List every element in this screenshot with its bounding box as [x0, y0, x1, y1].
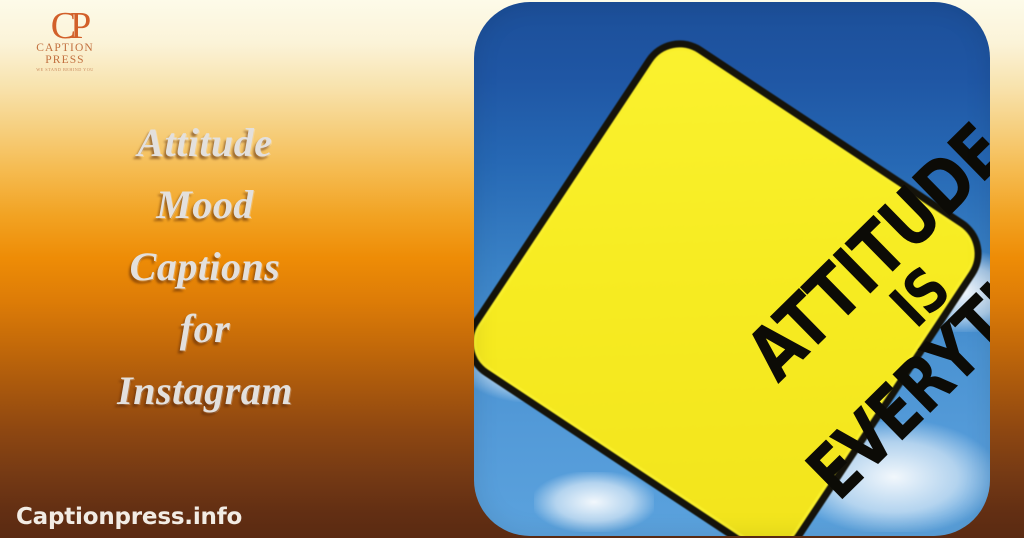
page-title-line: Mood [20, 174, 390, 236]
page-title-line: Instagram [20, 360, 390, 422]
logo-tagline: WE STAND BEHIND YOU [16, 67, 114, 72]
logo-monogram-icon: CP [22, 8, 114, 44]
feature-image-panel: ATTITUDE IS EVERYTHING [474, 2, 990, 536]
cloud-icon [534, 472, 654, 532]
logo-brand-name: CAPTION PRESS [16, 42, 114, 66]
poster-canvas: CP CAPTION PRESS WE STAND BEHIND YOU Att… [0, 0, 1024, 538]
site-url-label: Captionpress.info [16, 504, 242, 530]
brand-logo: CP CAPTION PRESS WE STAND BEHIND YOU [4, 8, 114, 72]
page-title-line: Captions [20, 236, 390, 298]
page-title-line: Attitude [20, 112, 390, 174]
page-title-line: for [20, 298, 390, 360]
page-title: Attitude Mood Captions for Instagram [20, 112, 390, 422]
